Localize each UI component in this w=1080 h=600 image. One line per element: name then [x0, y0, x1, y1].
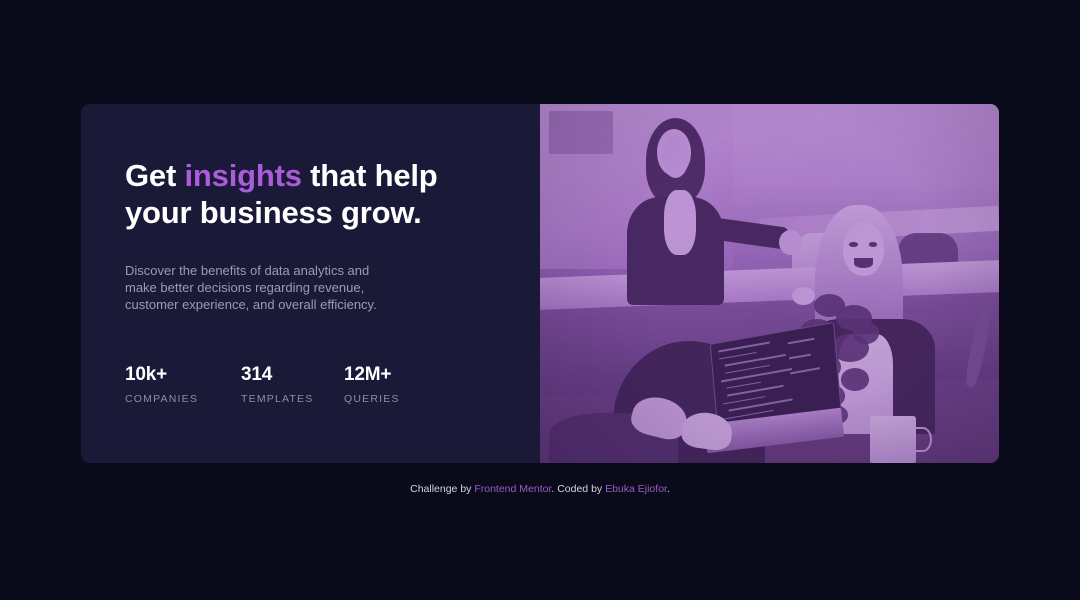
card-content: Get insights that help your business gro…	[81, 104, 540, 463]
stat-label: COMPANIES	[125, 393, 241, 405]
stat-value: 12M+	[344, 364, 444, 386]
stat-queries: 12M+ QUERIES	[344, 364, 444, 405]
frontend-mentor-link[interactable]: Frontend Mentor	[474, 483, 551, 495]
attribution-middle: . Coded by	[551, 483, 605, 495]
photo-vignette	[540, 104, 999, 463]
stat-label: QUERIES	[344, 393, 444, 405]
attribution-suffix: .	[667, 483, 670, 495]
stat-value: 314	[241, 364, 344, 386]
card-image	[540, 104, 999, 463]
office-team-photo	[540, 104, 999, 463]
attribution-prefix: Challenge by	[410, 483, 474, 495]
headline-text-before: Get	[125, 158, 185, 193]
page-title: Get insights that help your business gro…	[125, 157, 496, 231]
card-description: Discover the benefits of data analytics …	[125, 262, 393, 313]
stat-value: 10k+	[125, 364, 241, 386]
author-link[interactable]: Ebuka Ejiofor	[605, 483, 667, 495]
stat-templates: 314 TEMPLATES	[241, 364, 344, 405]
stat-label: TEMPLATES	[241, 393, 344, 405]
stats-list: 10k+ COMPANIES 314 TEMPLATES 12M+ QUERIE…	[125, 364, 496, 405]
stat-companies: 10k+ COMPANIES	[125, 364, 241, 405]
stats-preview-card: Get insights that help your business gro…	[81, 104, 999, 463]
page: Get insights that help your business gro…	[0, 0, 1080, 600]
attribution: Challenge by Frontend Mentor. Coded by E…	[0, 483, 1080, 495]
headline-accent-word: insights	[185, 158, 302, 193]
